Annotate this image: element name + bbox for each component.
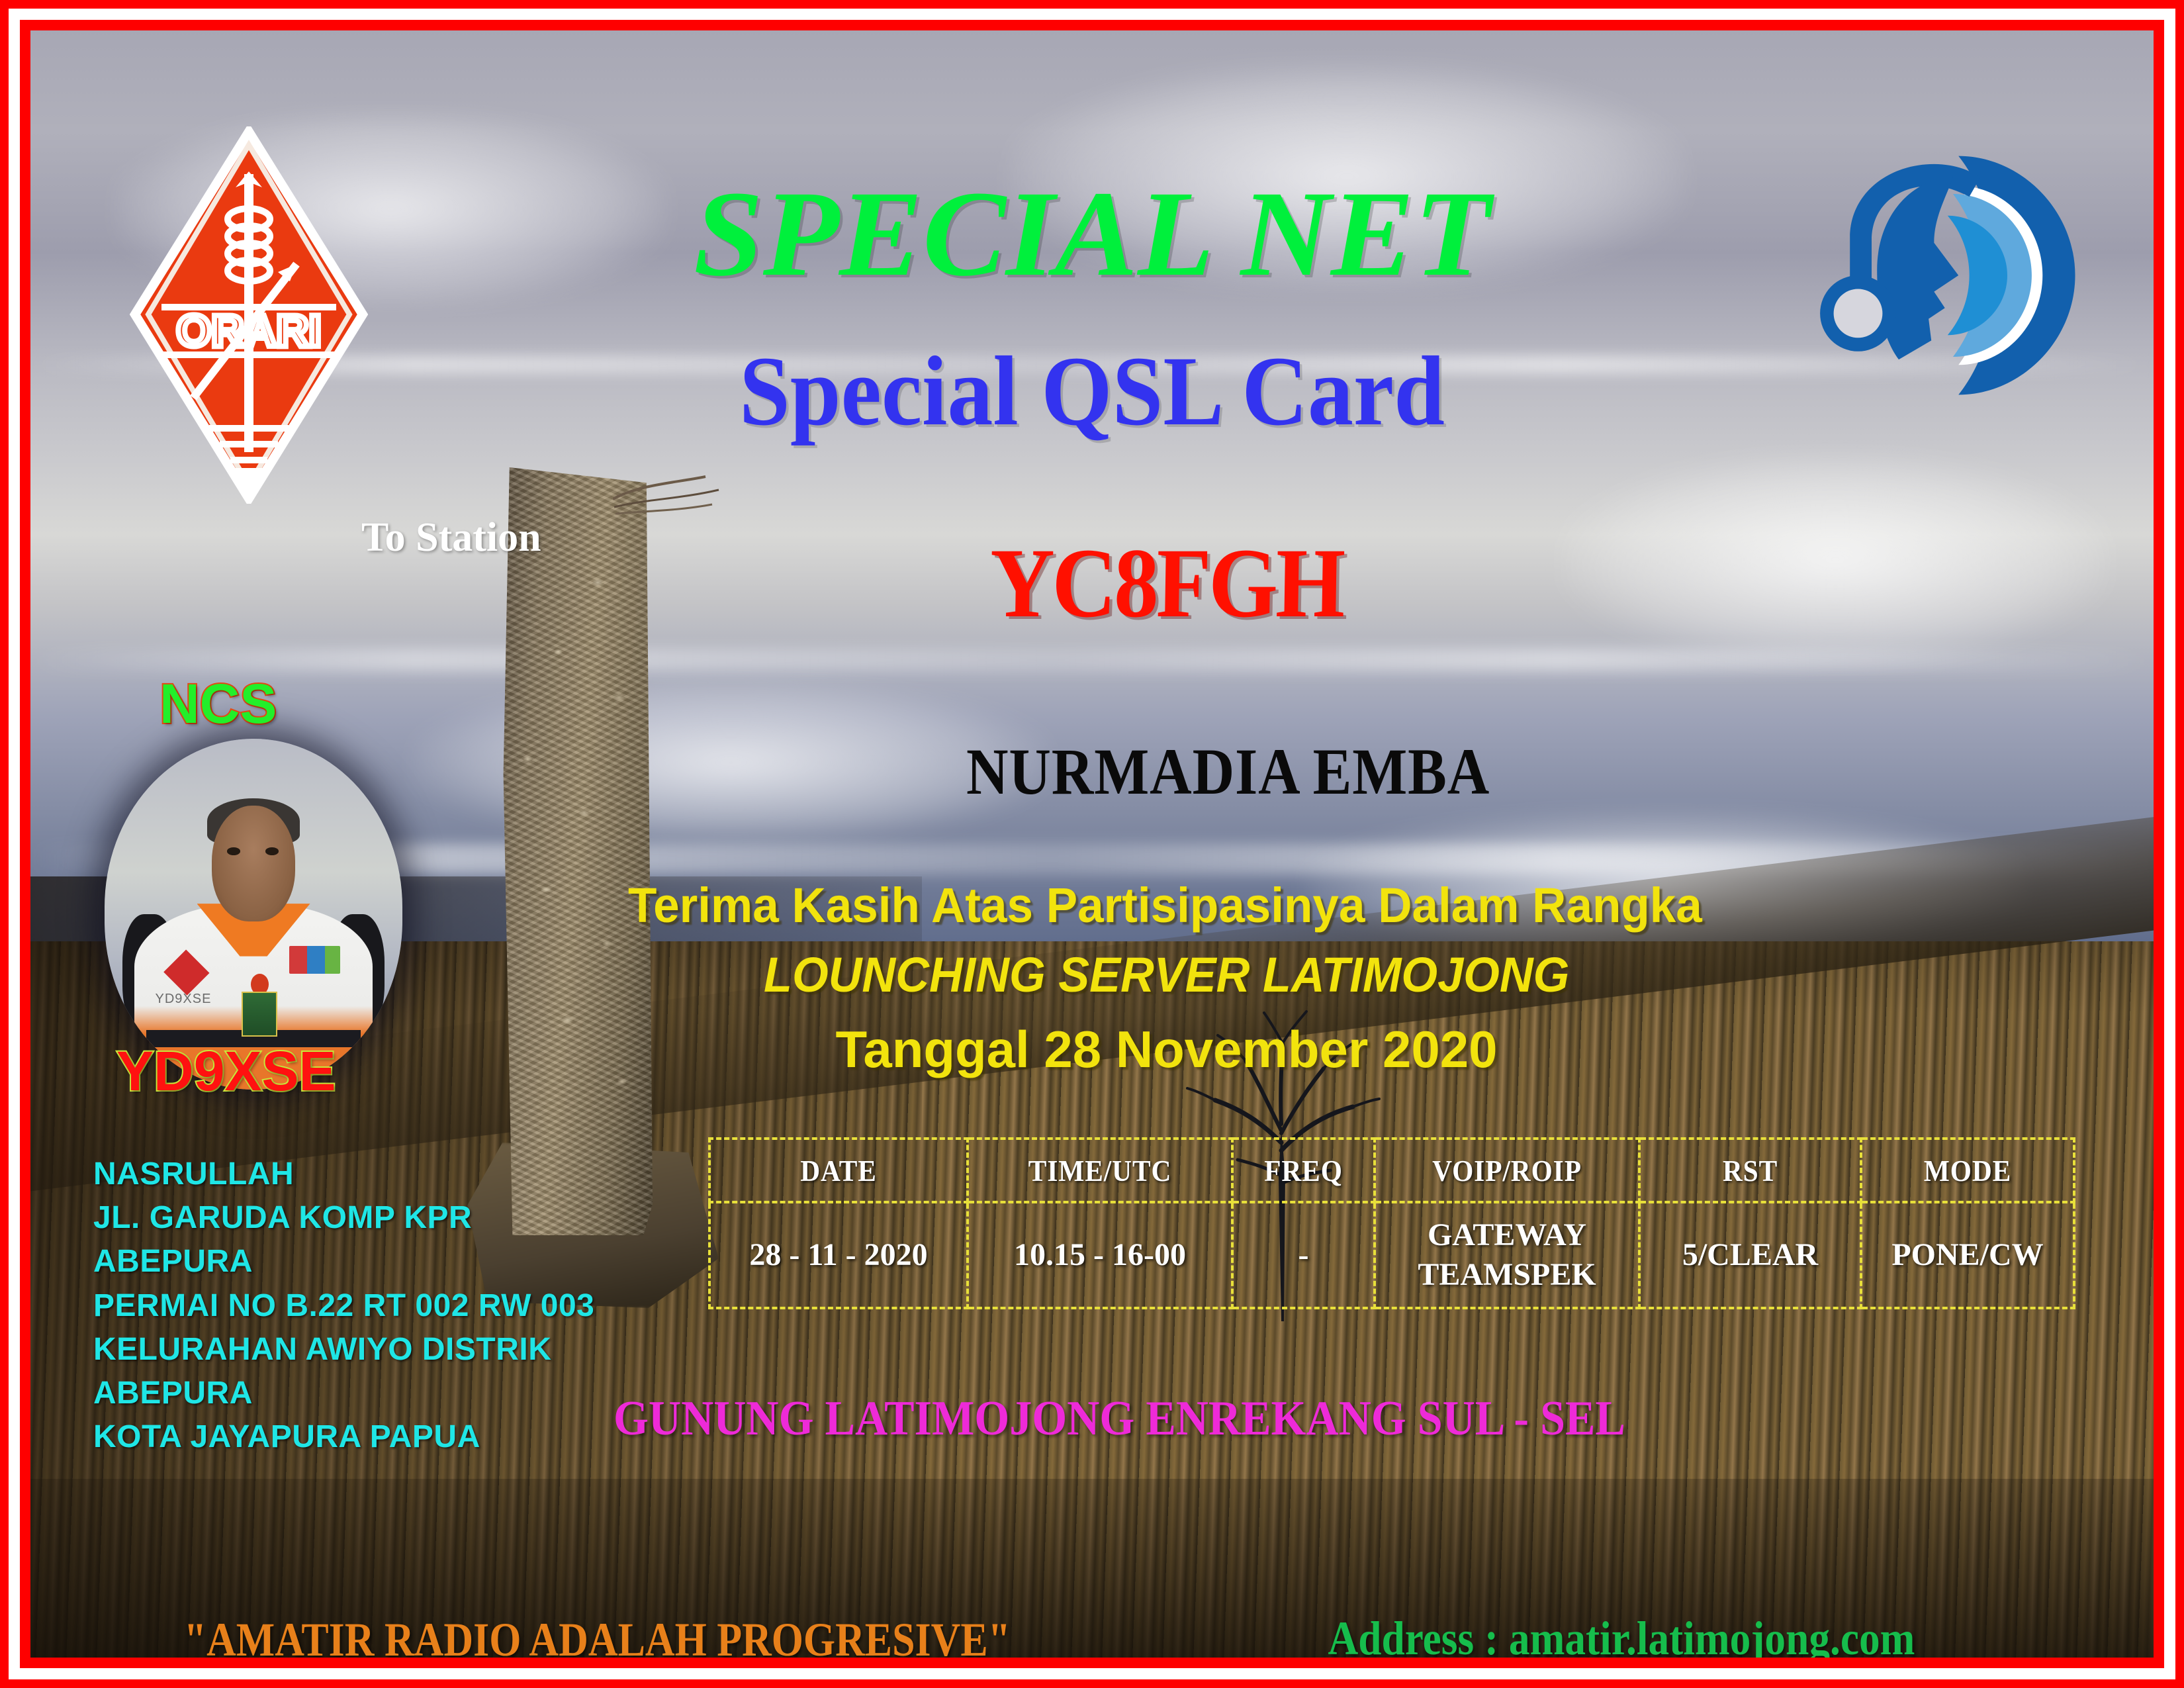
column-header-rst: RST — [1651, 1139, 1850, 1202]
eye-left — [227, 847, 240, 855]
event-name-line: LOUNCHING SERVER LATIMOJONG — [30, 951, 2154, 1000]
address-line: NASRULLAH — [93, 1152, 594, 1196]
qsl-card-photo-background: ORARI — [30, 30, 2154, 1658]
table-header-row: DATE TIME/UTC FREQ VOIP/ROIP RST MODE — [709, 1139, 2074, 1202]
column-header-mode: MODE — [1872, 1139, 2064, 1202]
cell-voip-line1: GATEWAY — [1376, 1215, 1638, 1255]
column-header-date: DATE — [723, 1139, 955, 1202]
stone-cairn-monument — [500, 467, 653, 1235]
ncs-callsign: YD9XSE — [116, 1043, 336, 1099]
thanks-line-text: Terima Kasih Atas Partisipasinya Dalam R… — [628, 881, 1702, 930]
station-callsign: YC8FGH — [989, 534, 1343, 633]
frame-white-band: ORARI — [9, 9, 2175, 1679]
cell-rst: 5/CLEAR — [1639, 1202, 1861, 1308]
slogan-text: "AMATIR RADIO ADALAH PROGRESIVE" — [184, 1616, 1011, 1658]
ncs-label: NCS — [159, 676, 277, 731]
cell-date: 28 - 11 - 2020 — [709, 1202, 968, 1308]
page-title: SPECIAL NET — [30, 173, 2154, 295]
table-row: 28 - 11 - 2020 10.15 - 16-00 - GATEWAY T… — [709, 1202, 2074, 1308]
to-station-label: To Station — [361, 517, 541, 558]
column-header-voip-roip: VOIP/ROIP — [1388, 1139, 1626, 1202]
eye-right — [265, 847, 279, 855]
column-header-time: TIME/UTC — [981, 1139, 1219, 1202]
cell-voip-roip: GATEWAY TEAMSPEK — [1375, 1202, 1639, 1308]
page-subtitle: Special QSL Card — [115, 342, 2068, 441]
location-caption-text: GUNUNG LATIMOJONG ENREKANG SUL - SEL — [614, 1394, 1625, 1443]
address-line: KELURAHAN AWIYO DISTRIK — [93, 1328, 594, 1372]
cloud — [1559, 453, 2111, 665]
qsl-card-frame: ORARI — [0, 0, 2184, 1688]
web-address-text: Address : amatir.latimojong.com — [1328, 1615, 1915, 1658]
event-date-line: Tanggal 28 November 2020 — [30, 1023, 2154, 1075]
event-date-text: Tanggal 28 November 2020 — [836, 1023, 1498, 1075]
location-caption: GUNUNG LATIMOJONG ENREKANG SUL - SEL — [115, 1394, 2068, 1443]
cairn-twigs — [613, 473, 745, 532]
address-line: JL. GARUDA KOMP KPR — [93, 1196, 594, 1240]
address-line: PERMAI NO B.22 RT 002 RW 003 — [93, 1284, 594, 1328]
address-line: ABEPURA — [93, 1240, 594, 1284]
cell-mode: PONE/CW — [1861, 1202, 2074, 1308]
qso-log-table: DATE TIME/UTC FREQ VOIP/ROIP RST MODE 28… — [708, 1137, 2075, 1309]
operator-name: NURMADIA EMBA — [966, 739, 1490, 805]
cell-time: 10.15 - 16-00 — [968, 1202, 1232, 1308]
cell-freq: - — [1232, 1202, 1375, 1308]
column-header-freq: FREQ — [1240, 1139, 1368, 1202]
thanks-line: Terima Kasih Atas Partisipasinya Dalam R… — [73, 881, 2111, 930]
event-name-text: LOUNCHING SERVER LATIMOJONG — [764, 951, 1569, 1000]
frame-red-inner-band: ORARI — [20, 20, 2164, 1668]
cell-voip-line2: TEAMSPEK — [1376, 1255, 1638, 1295]
